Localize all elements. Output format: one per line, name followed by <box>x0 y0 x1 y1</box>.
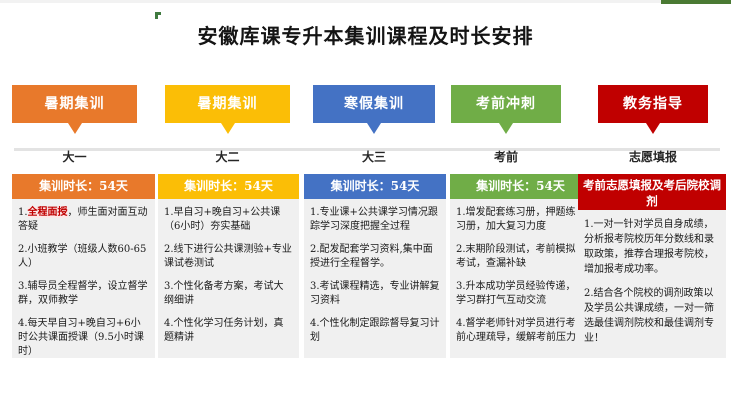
top-right-green-bar-artifact <box>661 0 731 4</box>
card-item: 4.每天早自习+晚自习+6小时公共课面授课（9.5小时课时） <box>18 317 149 358</box>
card-item: 4.督学老师针对学员进行考前心理疏导，缓解考前压力 <box>456 317 585 345</box>
phase-pointer-4 <box>646 123 660 134</box>
card-item: 4.个性化学习任务计划，真题精讲 <box>164 317 293 345</box>
course-card-4: 考前志愿填报及考后院校调剂 1.一对一针对学员自身成绩，分析报考院校历年分数线和… <box>578 174 726 358</box>
card-item: 1.专业课+公共课学习情况跟踪学习深度把握全过程 <box>310 206 440 234</box>
phase-pointer-3 <box>499 123 513 134</box>
phase-label-1: 暑期集训 <box>198 96 258 112</box>
phase-label-3: 考前冲刺 <box>476 96 536 112</box>
card-body-4: 1.一对一针对学员自身成绩，分析报考院校历年分数线和录取政策，推荐合理报考院校，… <box>578 210 726 352</box>
card-body-3: 1.增发配套练习册，押题练习册，加大复习力度 2.末期阶段测试，考前模拟考试，查… <box>450 199 591 351</box>
timeline-label-3: 考前 <box>451 147 561 167</box>
card-item: 1.早自习+晚自习+公共课（6小时）夯实基础 <box>164 206 293 234</box>
course-card-2: 集训时长：54天 1.专业课+公共课学习情况跟踪学习深度把握全过程 2.配发配套… <box>304 174 446 358</box>
timeline-label-0: 大一 <box>12 147 137 167</box>
card-item: 2.配发配套学习资料,集中面授进行全程督学。 <box>310 243 440 271</box>
card-item: 2.结合各个院校的调剂政策以及学员公共课成绩，一对一筛选最佳调剂院校和最佳调剂专… <box>584 286 720 346</box>
card-item: 4.个性化制定跟踪督导复习计划 <box>310 317 440 345</box>
card-body-2: 1.专业课+公共课学习情况跟踪学习深度把握全过程 2.配发配套学习资料,集中面授… <box>304 199 446 351</box>
phase-pointer-0 <box>68 123 82 134</box>
phase-callout-2[interactable]: 寒假集训 <box>313 85 435 123</box>
timeline-label-1: 大二 <box>165 147 290 167</box>
card-header-3: 集训时长：54天 <box>450 174 591 199</box>
slide-canvas: 安徽库课专升本集训课程及时长安排 暑期集训 暑期集训 寒假集训 考前冲刺 教务指… <box>0 0 731 400</box>
course-card-3: 集训时长：54天 1.增发配套练习册，押题练习册，加大复习力度 2.末期阶段测试… <box>450 174 591 358</box>
card-header-2: 集训时长：54天 <box>304 174 446 199</box>
card-item: 1.一对一针对学员自身成绩，分析报考院校历年分数线和录取政策，推荐合理报考院校，… <box>584 217 720 277</box>
phase-pointer-2 <box>367 123 381 134</box>
card-body-0: 1.全程面授，师生面对面互动答疑 2.小班教学（班级人数60-65人） 3.辅导… <box>12 199 155 358</box>
phase-callout-4[interactable]: 教务指导 <box>598 85 708 123</box>
card-item: 1.全程面授，师生面对面互动答疑 <box>18 206 149 234</box>
card-header-4: 考前志愿填报及考后院校调剂 <box>578 174 726 210</box>
page-title: 安徽库课专升本集训课程及时长安排 <box>0 20 731 49</box>
card-header-0: 集训时长：54天 <box>12 174 155 199</box>
phase-pointer-1 <box>221 123 235 134</box>
phase-label-4: 教务指导 <box>623 96 683 112</box>
card-item: 2.末期阶段测试，考前模拟考试，查漏补缺 <box>456 243 585 271</box>
top-strip-decoration <box>0 0 661 3</box>
card-item: 1.增发配套练习册，押题练习册，加大复习力度 <box>456 206 585 234</box>
item-prefix: 1. <box>18 207 28 218</box>
card-item: 2.小班教学（班级人数60-65人） <box>18 243 149 271</box>
phase-label-2: 寒假集训 <box>344 96 404 112</box>
card-header-1: 集训时长：54天 <box>158 174 299 199</box>
card-body-1: 1.早自习+晚自习+公共课（6小时）夯实基础 2.线下进行公共课测验+专业课试卷… <box>158 199 299 351</box>
timeline-label-2: 大三 <box>313 147 435 167</box>
card-item: 3.辅导员全程督学，设立督学群，双师教学 <box>18 280 149 308</box>
phase-callout-0[interactable]: 暑期集训 <box>12 85 137 123</box>
phase-callout-1[interactable]: 暑期集训 <box>165 85 290 123</box>
timeline-label-4: 志愿填报 <box>598 147 708 167</box>
cursor-artifact-icon <box>155 12 161 19</box>
phase-callout-3[interactable]: 考前冲刺 <box>451 85 561 123</box>
course-card-0: 集训时长：54天 1.全程面授，师生面对面互动答疑 2.小班教学（班级人数60-… <box>12 174 155 358</box>
phase-callout-row: 暑期集训 暑期集训 寒假集训 考前冲刺 教务指导 <box>0 85 731 140</box>
course-card-1: 集训时长：54天 1.早自习+晚自习+公共课（6小时）夯实基础 2.线下进行公共… <box>158 174 299 358</box>
phase-label-0: 暑期集训 <box>45 96 105 112</box>
item-highlight: 全程面授 <box>28 207 68 218</box>
card-item: 3.考试课程精选，专业讲解复习资料 <box>310 280 440 308</box>
card-item: 3.升本成功学员经验传递，学习群打气互动交流 <box>456 280 585 308</box>
card-item: 3.个性化备考方案，考试大纲细讲 <box>164 280 293 308</box>
card-item: 2.线下进行公共课测验+专业课试卷测试 <box>164 243 293 271</box>
